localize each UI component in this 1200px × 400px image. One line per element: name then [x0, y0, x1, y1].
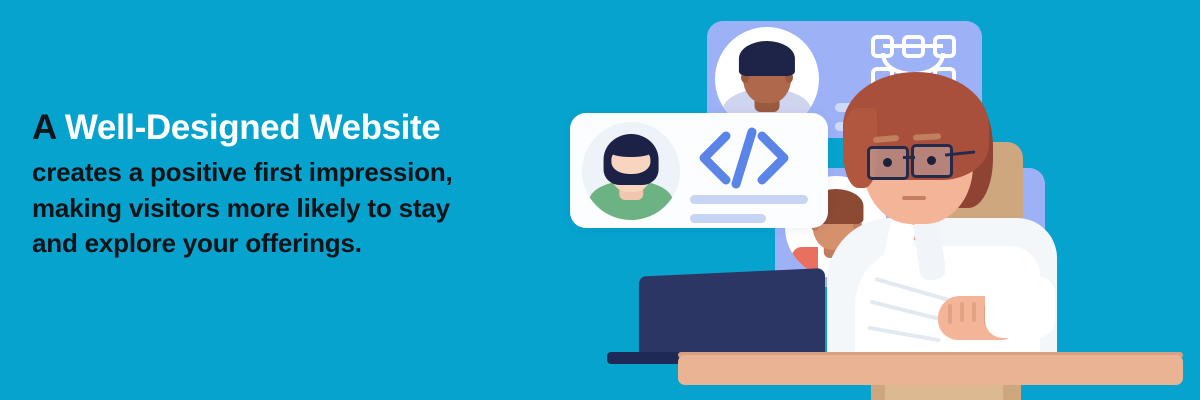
banner-root: A Well-Designed Website creates a positi…: [0, 0, 1200, 400]
card-code: [570, 113, 828, 228]
code-brackets-icon: [696, 127, 792, 189]
headline-rest: Well-Designed Website: [65, 108, 440, 147]
card-text-lines: [690, 195, 808, 233]
laptop-screen: [639, 268, 825, 360]
text-block: A Well-Designed Website creates a positi…: [32, 108, 552, 261]
headline-lead-word: A: [32, 108, 56, 147]
desk-surface: [678, 355, 1183, 385]
subcopy-line-1: creates a positive first impression,: [32, 155, 552, 190]
avatar: [582, 122, 680, 220]
page-title: A Well-Designed Website: [32, 108, 552, 147]
subcopy-line-2: making visitors more likely to stay: [32, 191, 552, 226]
text-line: [690, 195, 808, 204]
text-line: [690, 214, 766, 223]
subcopy-line-3: and explore your offerings.: [32, 226, 552, 261]
subcopy: creates a positive first impression, mak…: [32, 155, 552, 261]
person-mouth: [902, 196, 926, 200]
shirt-cuff: [985, 276, 1055, 338]
illustration: [555, 0, 1200, 400]
